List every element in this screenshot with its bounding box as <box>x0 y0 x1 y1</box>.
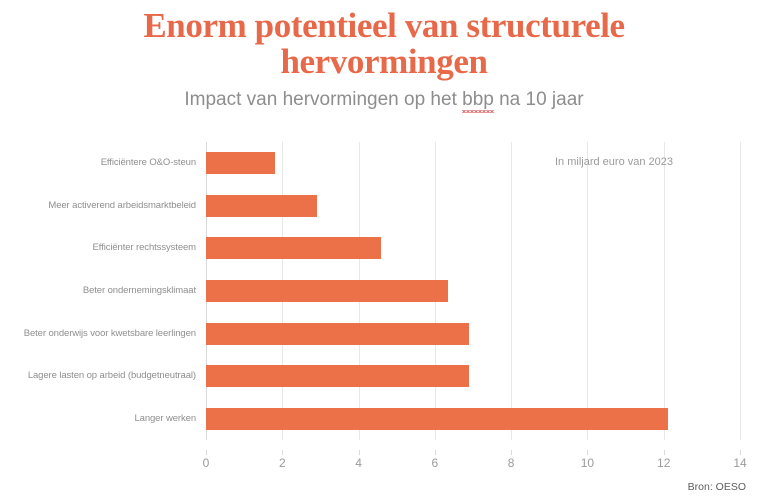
gridline-14 <box>740 142 741 440</box>
x-tick-mark <box>282 450 283 455</box>
page-title: Enorm potentieel van structurele hervorm… <box>64 8 704 80</box>
bar-row[interactable] <box>206 185 740 228</box>
bar-3[interactable] <box>206 280 448 302</box>
x-tick-label: 14 <box>733 456 746 470</box>
category-label: Lagere lasten op arbeid (budgetneutraal) <box>28 370 196 382</box>
bar-0[interactable] <box>206 152 275 174</box>
bar-1[interactable] <box>206 195 317 217</box>
bar-row[interactable] <box>206 270 740 313</box>
unit-annotation: In miljard euro van 2023 <box>555 155 673 169</box>
x-tick-mark <box>206 450 207 455</box>
bar-row[interactable] <box>206 355 740 398</box>
bar-4[interactable] <box>206 323 469 345</box>
category-label: Langer werken <box>134 413 196 425</box>
x-axis: 02468101214 <box>0 450 768 480</box>
category-label: Efficiënter rechtssysteem <box>93 242 196 254</box>
category-label: Efficiëntere O&O-steun <box>101 157 196 169</box>
subtitle-text-after: na 10 jaar <box>494 89 584 110</box>
x-tick-label: 10 <box>581 456 594 470</box>
subtitle-misspelled-word: bbp <box>462 88 494 112</box>
x-tick-mark <box>435 450 436 455</box>
x-tick-label: 4 <box>355 456 362 470</box>
subtitle-text-before: Impact van hervormingen op het <box>184 89 462 110</box>
bar-2[interactable] <box>206 237 381 259</box>
x-tick-mark <box>740 450 741 455</box>
bar-6[interactable] <box>206 408 668 430</box>
x-tick-mark <box>511 450 512 455</box>
bar-row[interactable] <box>206 397 740 440</box>
plot-area <box>206 142 740 440</box>
category-label: Beter onderwijs voor kwetsbare leerlinge… <box>24 328 196 340</box>
bar-row[interactable] <box>206 312 740 355</box>
x-tick-mark <box>587 450 588 455</box>
chart-subtitle: Impact van hervormingen op het bbp na 10… <box>64 88 704 112</box>
source-annotation: Bron: OESO <box>688 481 746 494</box>
x-tick-label: 2 <box>279 456 286 470</box>
x-tick-label: 8 <box>508 456 515 470</box>
chart-page: Enorm potentieel van structurele hervorm… <box>0 0 768 503</box>
x-tick-label: 0 <box>203 456 210 470</box>
x-tick-mark <box>359 450 360 455</box>
x-tick-label: 6 <box>432 456 439 470</box>
bar-row[interactable] <box>206 227 740 270</box>
x-tick-label: 12 <box>657 456 670 470</box>
bar-5[interactable] <box>206 365 469 387</box>
category-label: Meer activerend arbeidsmarktbeleid <box>48 200 196 212</box>
x-tick-mark <box>664 450 665 455</box>
category-label: Beter ondernemingsklimaat <box>83 285 196 297</box>
